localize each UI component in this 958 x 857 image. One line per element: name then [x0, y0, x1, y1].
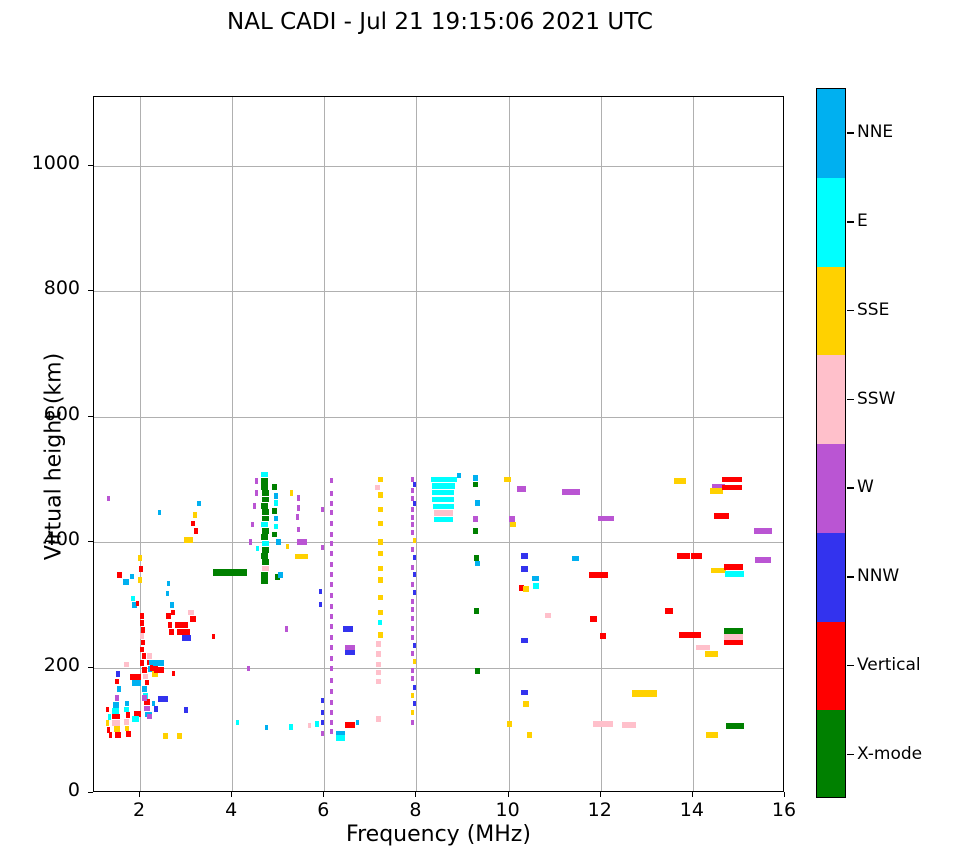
y-axis-tick-label: 400: [0, 528, 80, 550]
echo-mark: [112, 714, 120, 720]
echo-mark: [265, 725, 268, 730]
echo-mark: [261, 578, 267, 584]
echo-mark: [168, 622, 173, 628]
echo-mark: [589, 572, 608, 578]
echo-mark: [247, 666, 250, 671]
echo-mark: [261, 522, 267, 528]
echo-mark: [251, 522, 254, 528]
colorbar-label-sse: SSE: [857, 300, 889, 320]
echo-mark: [330, 582, 333, 587]
gridline-horizontal: [94, 417, 783, 418]
echo-mark: [142, 653, 146, 659]
echo-mark: [724, 640, 742, 646]
echo-mark: [411, 547, 414, 552]
echo-mark: [177, 629, 190, 635]
echo-mark: [413, 685, 416, 690]
echo-mark: [330, 635, 333, 640]
echo-mark: [411, 651, 414, 656]
x-axis-tick-label: 2: [109, 799, 169, 821]
x-axis-tick-label: 6: [293, 799, 353, 821]
x-axis-label: Frequency (MHz): [93, 822, 784, 847]
echo-mark: [182, 635, 191, 641]
echo-mark: [236, 720, 239, 725]
echo-mark: [411, 676, 414, 681]
echo-mark: [411, 582, 414, 587]
colorbar-tick: [847, 221, 854, 223]
echo-mark: [117, 572, 123, 578]
echo-mark: [297, 505, 300, 511]
echo-mark: [255, 478, 258, 484]
echo-mark: [413, 555, 416, 560]
echo-mark: [411, 710, 414, 715]
echo-mark: [533, 583, 539, 589]
colorbar-segment: [817, 444, 845, 533]
colorbar-tick: [847, 310, 854, 312]
echo-mark: [261, 484, 267, 490]
echo-mark: [473, 516, 478, 522]
echo-mark: [297, 527, 300, 533]
echo-mark: [166, 613, 171, 619]
echo-mark: [261, 503, 267, 509]
echo-mark: [330, 551, 333, 556]
colorbar-tick: [847, 487, 854, 489]
echo-mark: [378, 577, 383, 583]
echo-mark: [330, 532, 333, 537]
x-axis-tick: [139, 792, 140, 797]
echo-mark: [632, 690, 657, 697]
echo-mark: [434, 510, 453, 516]
echo-mark: [376, 679, 382, 685]
gridline-horizontal: [94, 542, 783, 543]
echo-mark: [504, 477, 510, 483]
echo-mark: [689, 632, 701, 638]
echo-mark: [321, 710, 324, 715]
colorbar-label-x-mode: X-mode: [857, 744, 922, 764]
colorbar-tick: [847, 132, 854, 134]
echo-mark: [705, 651, 718, 657]
echo-mark: [330, 510, 333, 515]
echo-mark: [622, 722, 636, 728]
echo-mark: [262, 541, 268, 547]
y-axis-tick-label: 1000: [0, 152, 80, 174]
echo-mark: [413, 538, 416, 543]
echo-mark: [130, 674, 140, 680]
echo-mark: [107, 496, 110, 501]
echo-mark: [411, 720, 414, 725]
echo-mark: [523, 586, 529, 592]
echo-mark: [140, 613, 144, 619]
echo-mark: [261, 553, 267, 559]
echo-mark: [411, 668, 414, 673]
echo-mark: [411, 599, 414, 604]
echo-mark: [154, 667, 164, 673]
colorbar-segment: [817, 267, 845, 356]
echo-mark: [706, 732, 718, 738]
echo-mark: [411, 565, 414, 570]
echo-mark: [152, 701, 155, 707]
echo-mark: [249, 539, 252, 545]
echo-mark: [169, 629, 174, 635]
echo-mark: [545, 613, 551, 619]
echo-mark: [726, 723, 744, 729]
echo-mark: [432, 490, 454, 496]
gridline-vertical: [416, 97, 417, 791]
echo-mark: [378, 566, 383, 572]
echo-mark: [677, 553, 690, 559]
echo-mark: [262, 497, 269, 503]
echo-mark: [330, 678, 333, 683]
echo-mark: [411, 515, 414, 520]
echo-mark: [142, 667, 147, 673]
echo-mark: [276, 539, 282, 545]
echo-mark: [321, 507, 324, 512]
echo-mark: [330, 720, 333, 725]
colorbar-tick: [847, 576, 854, 578]
echo-mark: [433, 504, 454, 510]
echo-mark: [378, 551, 383, 557]
echo-mark: [138, 555, 141, 561]
echo-mark: [330, 593, 333, 598]
page-title: NAL CADI - Jul 21 19:15:06 2021 UTC: [0, 9, 880, 35]
echo-mark: [474, 608, 479, 614]
echo-mark: [315, 721, 319, 727]
echo-mark: [330, 478, 333, 483]
echo-mark: [188, 610, 194, 616]
echo-mark: [330, 700, 333, 705]
colorbar-segment: [817, 533, 845, 622]
echo-mark: [262, 509, 268, 515]
echo-mark: [116, 671, 120, 677]
echo-mark: [140, 660, 144, 666]
echo-mark: [413, 501, 416, 506]
echo-mark: [375, 485, 380, 491]
echo-mark: [674, 478, 686, 484]
echo-mark: [308, 723, 311, 728]
echo-mark: [112, 720, 119, 726]
y-axis-tick-label: 800: [0, 277, 80, 299]
echo-mark: [378, 492, 383, 498]
colorbar-label-vertical: Vertical: [857, 655, 921, 675]
echo-mark: [330, 491, 333, 496]
echo-mark: [274, 524, 279, 530]
echo-mark: [272, 484, 277, 490]
gridline-vertical: [601, 97, 602, 791]
echo-mark: [115, 732, 121, 738]
echo-mark: [106, 720, 109, 726]
echo-mark: [321, 731, 324, 736]
x-axis-tick: [323, 792, 324, 797]
colorbar-tick: [847, 754, 854, 756]
echo-mark: [321, 720, 324, 725]
echo-mark: [330, 541, 333, 546]
gridline-vertical: [140, 97, 141, 791]
echo-mark: [141, 640, 145, 646]
echo-mark: [457, 473, 461, 478]
echo-mark: [345, 650, 355, 656]
echo-mark: [194, 528, 198, 534]
echo-mark: [411, 693, 414, 698]
echo-mark: [319, 589, 322, 594]
echo-mark: [171, 610, 175, 616]
echo-mark: [343, 626, 353, 632]
echo-mark: [272, 508, 277, 514]
x-axis-tick: [692, 792, 693, 797]
echo-mark: [710, 488, 723, 494]
echo-mark: [696, 645, 710, 651]
echo-mark: [475, 561, 480, 567]
echo-mark: [336, 735, 345, 741]
echo-mark: [378, 595, 383, 601]
x-axis-tick: [231, 792, 232, 797]
echo-mark: [197, 501, 201, 506]
echo-mark: [132, 680, 141, 686]
echo-mark: [523, 701, 529, 707]
echo-mark: [413, 590, 416, 595]
echo-mark: [262, 490, 269, 496]
colorbar-segment: [817, 710, 845, 798]
echo-mark: [330, 614, 333, 619]
echo-mark: [376, 651, 382, 657]
echo-mark: [274, 516, 279, 522]
x-axis-tick-label: 8: [385, 799, 445, 821]
echo-mark: [255, 490, 258, 496]
colorbar-label-nne: NNE: [857, 122, 893, 142]
echo-mark: [330, 521, 333, 526]
echo-mark: [724, 564, 742, 570]
echo-mark: [115, 679, 119, 685]
echo-mark: [378, 620, 382, 626]
echo-mark: [253, 503, 256, 509]
echo-mark: [262, 516, 268, 522]
echo-mark: [191, 521, 195, 527]
echo-mark: [177, 733, 182, 739]
echo-mark: [434, 517, 453, 523]
echo-mark: [115, 695, 119, 701]
echo-mark: [521, 566, 527, 572]
echo-mark: [138, 577, 141, 583]
echo-mark: [473, 482, 478, 488]
echo-mark: [665, 608, 673, 614]
echo-mark: [376, 716, 382, 722]
echo-mark: [166, 591, 169, 597]
echo-mark: [167, 581, 170, 587]
x-axis-tick-label: 14: [662, 799, 722, 821]
echo-mark: [130, 574, 134, 580]
echo-mark: [473, 475, 478, 481]
x-axis-tick-label: 12: [570, 799, 630, 821]
echo-mark: [562, 489, 580, 495]
colorbar-tick: [847, 665, 854, 667]
gridline-horizontal: [94, 166, 783, 167]
echo-mark: [321, 545, 324, 550]
echo-mark: [714, 513, 729, 519]
echo-mark: [125, 701, 130, 707]
echo-mark: [274, 493, 279, 499]
echo-mark: [158, 510, 161, 515]
echo-mark: [139, 566, 142, 572]
echo-mark: [411, 607, 414, 612]
echo-mark: [590, 616, 597, 622]
echo-mark: [285, 626, 288, 632]
echo-mark: [413, 701, 416, 706]
echo-mark: [319, 602, 322, 607]
echo-mark: [593, 721, 612, 727]
echo-mark: [131, 596, 135, 602]
echo-mark: [256, 546, 259, 552]
echo-mark: [297, 539, 307, 545]
y-axis-tick: [88, 792, 93, 793]
colorbar-segment: [817, 178, 845, 267]
x-axis-tick-label: 16: [754, 799, 814, 821]
echo-mark: [278, 572, 282, 578]
y-axis-tick: [88, 541, 93, 542]
colorbar-label-ssw: SSW: [857, 389, 895, 409]
echo-mark: [725, 571, 743, 577]
echo-mark: [330, 656, 333, 661]
echo-mark: [262, 559, 269, 565]
echo-mark: [521, 690, 527, 696]
echo-mark: [376, 670, 382, 676]
colorbar-label-nnw: NNW: [857, 566, 899, 586]
echo-mark: [598, 516, 614, 522]
y-axis-tick: [88, 165, 93, 166]
echo-mark: [527, 732, 533, 738]
y-axis-tick: [88, 416, 93, 417]
x-axis-tick: [415, 792, 416, 797]
echo-mark: [330, 689, 333, 694]
echo-mark: [153, 660, 163, 666]
echo-mark: [272, 532, 277, 538]
echo-mark: [124, 662, 129, 668]
echo-mark: [147, 714, 152, 720]
echo-mark: [521, 638, 527, 644]
echo-mark: [213, 569, 248, 576]
gridline-vertical: [509, 97, 510, 791]
echo-mark: [132, 716, 138, 722]
echo-mark: [141, 627, 145, 633]
gridline-vertical: [693, 97, 694, 791]
gridline-horizontal: [94, 291, 783, 292]
echo-mark: [140, 647, 144, 653]
echo-mark: [154, 706, 159, 712]
x-axis-tick-label: 10: [478, 799, 538, 821]
echo-mark: [184, 707, 189, 713]
y-axis-tick: [88, 290, 93, 291]
echo-mark: [142, 695, 147, 701]
echo-mark: [691, 553, 703, 559]
echo-mark: [321, 698, 324, 703]
gridline-vertical: [324, 97, 325, 791]
echo-mark: [475, 500, 480, 506]
echo-mark: [411, 488, 414, 493]
echo-mark: [261, 472, 267, 478]
x-axis-tick: [784, 792, 785, 797]
echo-mark: [274, 500, 279, 506]
echo-mark: [532, 576, 538, 582]
echo-mark: [475, 668, 480, 674]
echo-mark: [261, 478, 267, 484]
colorbar: [816, 88, 846, 798]
echo-mark: [184, 537, 192, 543]
echo-mark: [413, 572, 416, 577]
echo-mark: [376, 641, 382, 647]
echo-mark: [330, 710, 333, 715]
colorbar-label-w: W: [857, 477, 874, 497]
echo-mark: [356, 720, 359, 725]
echo-mark: [330, 604, 333, 609]
plot-area: [93, 96, 784, 792]
echo-mark: [212, 634, 215, 639]
colorbar-label-e: E: [857, 211, 868, 231]
echo-mark: [722, 485, 741, 491]
colorbar-segment: [817, 355, 845, 444]
echo-mark: [158, 696, 167, 702]
x-axis-tick-label: 4: [201, 799, 261, 821]
echo-mark: [413, 482, 416, 487]
echo-mark: [290, 490, 293, 496]
echo-mark: [572, 556, 578, 562]
echo-mark: [261, 534, 267, 540]
echo-mark: [411, 530, 414, 535]
echo-mark: [145, 680, 150, 686]
echo-mark: [411, 522, 414, 527]
echo-mark: [378, 539, 383, 545]
echo-mark: [521, 553, 527, 559]
echo-mark: [106, 707, 109, 713]
ionogram-figure: NAL CADI - Jul 21 19:15:06 2021 UTC 2468…: [0, 0, 958, 857]
echo-mark: [722, 477, 741, 483]
echo-mark: [172, 671, 175, 676]
echo-mark: [330, 624, 333, 629]
x-axis-tick: [600, 792, 601, 797]
y-axis-tick-label: 200: [0, 654, 80, 676]
echo-mark: [126, 712, 131, 718]
gridline-vertical: [232, 97, 233, 791]
echo-mark: [378, 477, 383, 483]
echo-mark: [136, 601, 139, 606]
echo-mark: [411, 626, 414, 631]
y-axis-tick-label: 600: [0, 403, 80, 425]
y-axis-tick-label: 0: [0, 779, 80, 801]
echo-mark: [126, 731, 131, 737]
echo-mark: [411, 616, 414, 621]
echo-mark: [376, 662, 382, 668]
echo-mark: [190, 616, 196, 622]
echo-mark: [262, 566, 269, 572]
echo-mark: [262, 528, 269, 534]
colorbar-segment: [817, 89, 845, 178]
echo-mark: [378, 507, 383, 513]
echo-mark: [330, 562, 333, 567]
echo-mark: [378, 610, 383, 616]
echo-mark: [432, 483, 455, 489]
echo-mark: [754, 528, 772, 534]
echo-mark: [473, 528, 478, 534]
echo-mark: [330, 729, 333, 734]
echo-mark: [289, 724, 293, 730]
echo-mark: [413, 659, 416, 664]
echo-mark: [330, 501, 333, 506]
echo-mark: [286, 544, 289, 550]
echo-mark: [755, 557, 771, 563]
echo-mark: [413, 643, 416, 648]
echo-mark: [175, 622, 189, 628]
echo-mark: [330, 572, 333, 577]
echo-mark: [411, 507, 414, 512]
echo-mark: [295, 554, 308, 560]
echo-mark: [163, 733, 168, 739]
echo-mark: [170, 602, 174, 608]
